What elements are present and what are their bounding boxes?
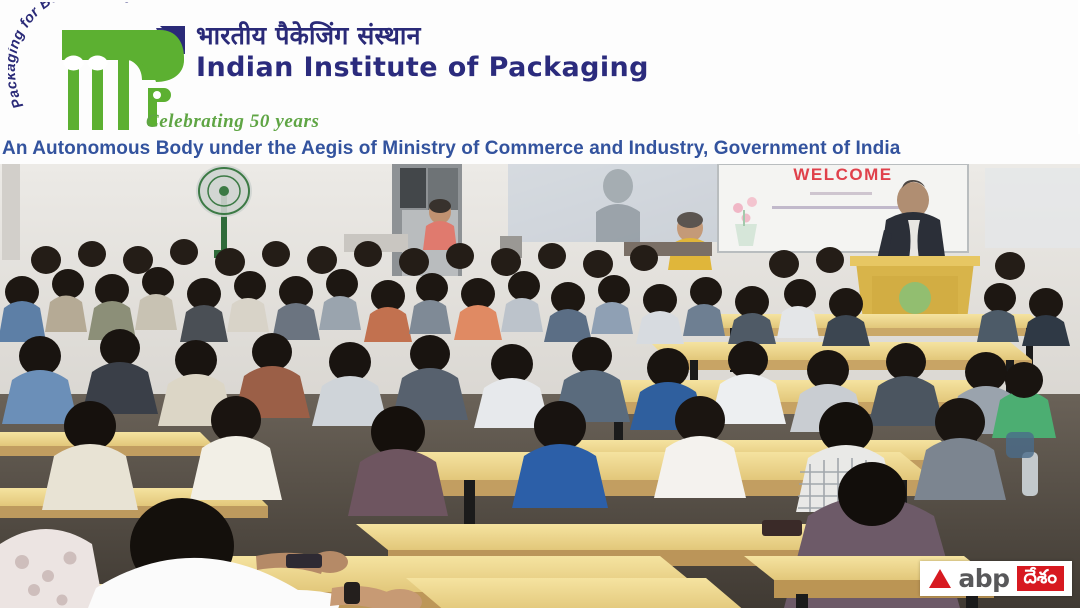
institute-header-banner: Packaging for Better Living <box>0 0 1080 164</box>
whiteboard-welcome-text: WELCOME <box>793 165 892 184</box>
screenshot-root: Packaging for Better Living <box>0 0 1080 608</box>
autonomous-body-tagline: An Autonomous Body under the Aegis of Mi… <box>0 138 900 160</box>
abp-triangle-icon <box>929 569 951 588</box>
institute-title-block: भारतीय पैकेजिंग संस्थान Indian Institute… <box>196 22 649 83</box>
abp-brand-label: abp <box>958 566 1009 591</box>
lecture-hall-illustration: WELCOME <box>0 164 1080 608</box>
celebrating-50-years-text: Celebrating 50 years <box>146 111 320 133</box>
tagline-bar: An Autonomous Body under the Aegis of Mi… <box>0 134 1080 164</box>
institute-title-hindi: भारतीय पैकेजिंग संस्थान <box>196 22 649 50</box>
institute-title-english: Indian Institute of Packaging <box>196 52 649 83</box>
abp-desam-watermark: abp దేశం <box>920 561 1072 596</box>
lecture-hall-photo: WELCOME <box>0 164 1080 608</box>
abp-edition-label: దేశం <box>1017 566 1065 591</box>
